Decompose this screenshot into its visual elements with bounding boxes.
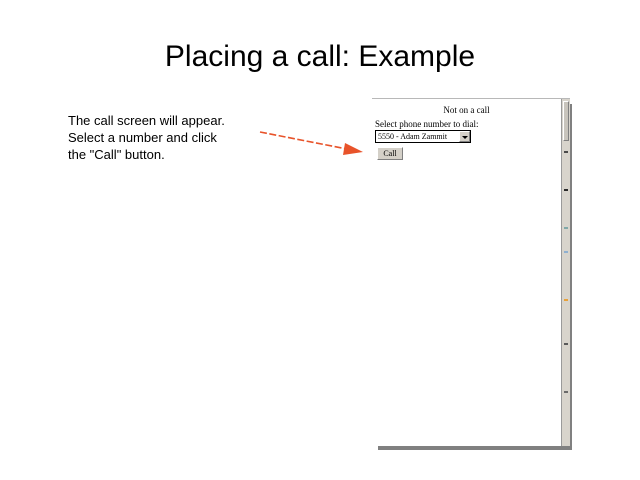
instruction-text: The call screen will appear. Select a nu… bbox=[68, 112, 268, 163]
phone-number-selected-value: 5550 - Adam Zammit bbox=[376, 131, 459, 142]
chevron-down-icon[interactable] bbox=[459, 131, 470, 142]
scrollbar-page-mark bbox=[564, 227, 568, 229]
scrollbar-page-mark bbox=[564, 299, 568, 301]
call-status-text: Not on a call bbox=[372, 105, 561, 115]
scrollbar-page-mark bbox=[564, 343, 568, 345]
page-title: Placing a call: Example bbox=[0, 40, 640, 74]
call-button[interactable]: Call bbox=[377, 147, 403, 160]
scrollbar-thumb[interactable] bbox=[563, 101, 569, 141]
instruction-line-1: The call screen will appear. bbox=[68, 112, 268, 129]
scrollbar-page-mark bbox=[564, 151, 568, 153]
scrollbar-page-mark bbox=[564, 189, 568, 191]
call-screen-screenshot: Not on a call Select phone number to dia… bbox=[372, 98, 570, 446]
instruction-line-3: the "Call" button. bbox=[68, 146, 268, 163]
scrollbar-page-mark bbox=[564, 251, 568, 253]
scrollbar-page-mark bbox=[564, 391, 568, 393]
instruction-line-2: Select a number and click bbox=[68, 129, 268, 146]
vertical-scrollbar[interactable] bbox=[561, 99, 570, 446]
phone-number-label: Select phone number to dial: bbox=[375, 119, 478, 129]
call-screen-content: Not on a call Select phone number to dia… bbox=[372, 99, 561, 446]
pointer-arrow-icon bbox=[255, 124, 370, 162]
phone-number-select[interactable]: 5550 - Adam Zammit bbox=[375, 130, 471, 143]
